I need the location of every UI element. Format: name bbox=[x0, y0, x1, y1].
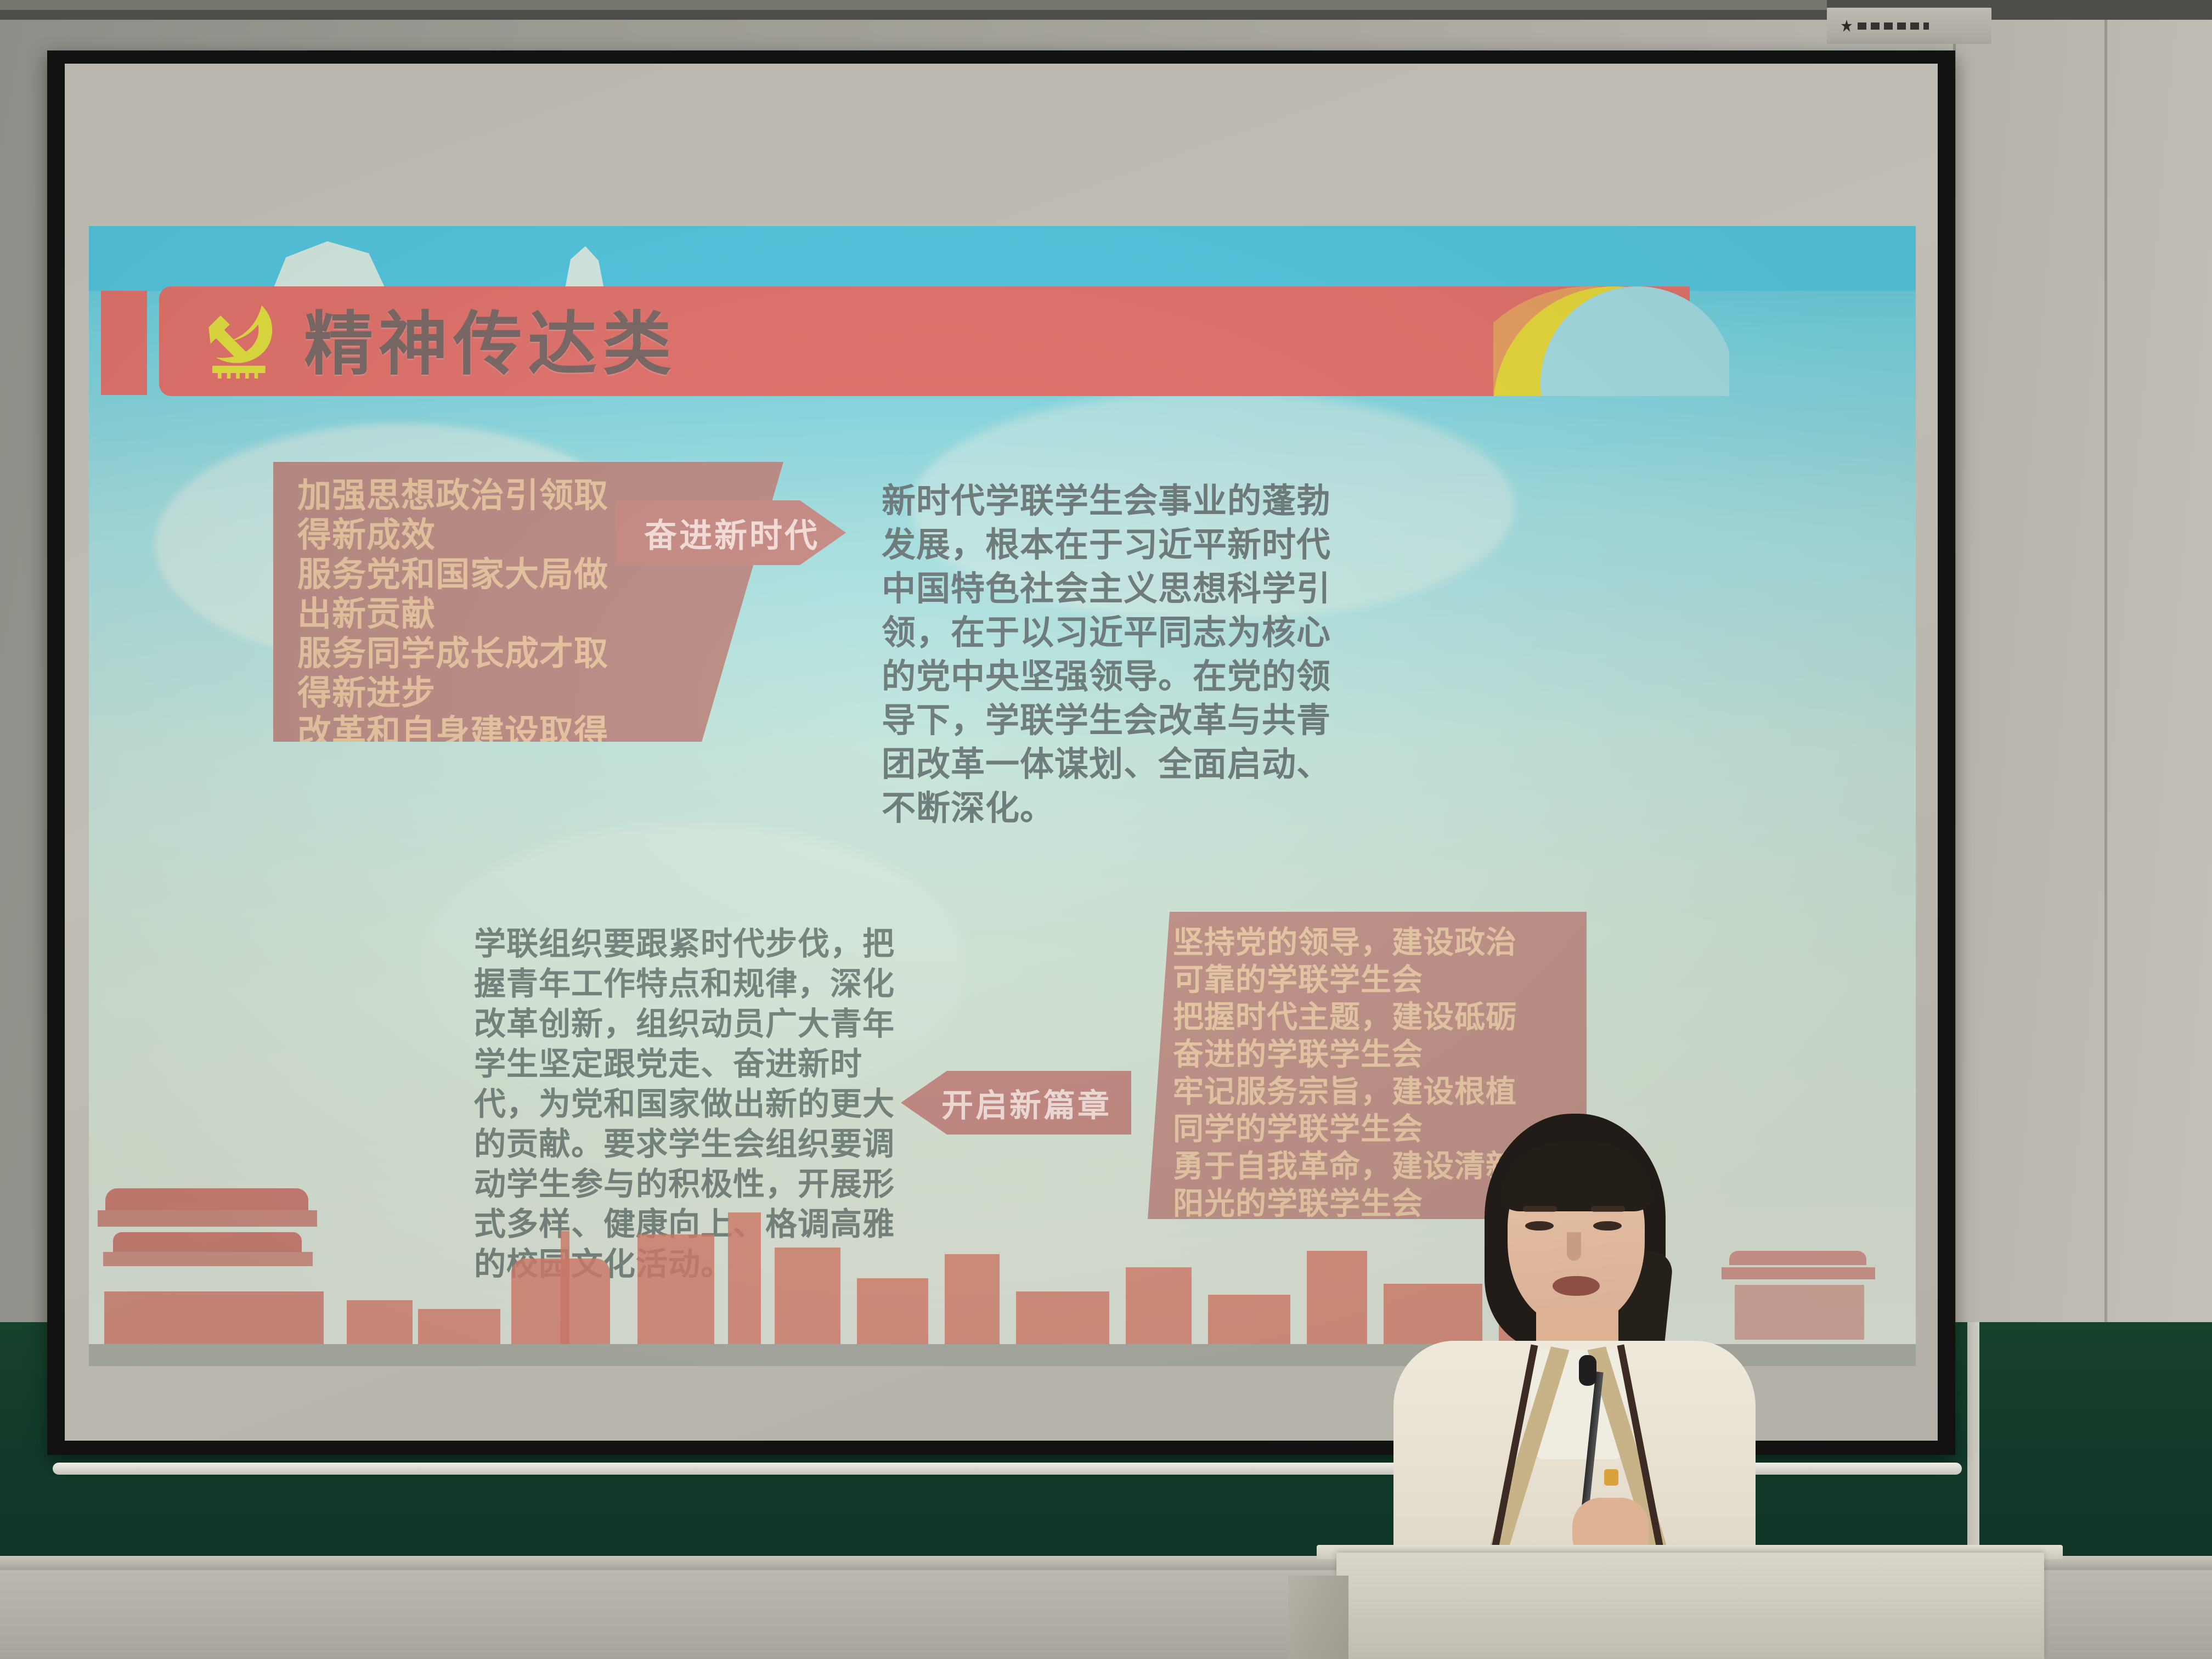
photo-scene: 精神传达类 加强思想政治引领取得新成效 服务党和国家大局做出新贡献 服务同学成长… bbox=[0, 0, 2212, 1659]
goal-line-1: 坚持党的领导，建设政治 bbox=[1173, 924, 1546, 961]
header-accent-tab bbox=[101, 291, 147, 395]
wall-sign-text bbox=[1858, 22, 1929, 30]
wall-sign bbox=[1827, 8, 1991, 44]
arrow-banner-forward: 奋进新时代 bbox=[616, 500, 846, 565]
arrow-banner-forward-label: 奋进新时代 bbox=[616, 509, 820, 557]
mouth bbox=[1553, 1276, 1600, 1296]
microphone-head-icon bbox=[1579, 1355, 1596, 1386]
goal-line-2: 可靠的学联学生会 bbox=[1173, 961, 1546, 998]
lectern bbox=[1336, 1553, 2044, 1659]
goal-line-3: 把握时代主题，建设砥砺 bbox=[1173, 998, 1546, 1036]
tiananmen-gate-icon bbox=[94, 1185, 330, 1344]
cpc-hammer-sickle-emblem-icon bbox=[193, 296, 286, 384]
arrow-banner-newchapter-label: 开启新篇章 bbox=[941, 1080, 1131, 1126]
arrow-banner-newchapter: 开启新篇章 bbox=[901, 1071, 1131, 1135]
achievement-line-4: 改革和自身建设取得新进展 bbox=[297, 713, 627, 792]
chalkboard-divider bbox=[1967, 1322, 1979, 1558]
lectern-side-panel bbox=[1288, 1576, 1348, 1659]
ceiling-strip-highlight bbox=[0, 0, 1827, 10]
rainbow-arc-decoration bbox=[1493, 286, 1729, 396]
nose bbox=[1567, 1232, 1581, 1261]
wall-sign-icon bbox=[1841, 20, 1852, 32]
eye-right bbox=[1593, 1221, 1622, 1231]
achievement-line-3: 服务同学成长成才取得新进步 bbox=[297, 634, 627, 713]
achievement-line-2: 服务党和国家大局做出新贡献 bbox=[297, 555, 627, 634]
eye-left bbox=[1525, 1221, 1554, 1231]
lapel-badge bbox=[1604, 1469, 1618, 1486]
intro-paragraph: 新时代学联学生会事业的蓬勃发展，根本在于习近平新时代中国特色社会主义思想科学引领… bbox=[882, 479, 1337, 831]
eyebrow-left bbox=[1523, 1206, 1557, 1212]
achievement-line-1: 加强思想政治引领取得新成效 bbox=[297, 476, 627, 555]
goal-line-5: 牢记服务宗旨，建设根植 bbox=[1173, 1073, 1546, 1110]
slide-title: 精神传达类 bbox=[304, 301, 677, 388]
wall-seam-right bbox=[2104, 0, 2107, 1350]
eyebrow-right bbox=[1591, 1206, 1625, 1212]
presenter bbox=[1372, 1114, 1778, 1585]
goal-line-4: 奋进的学联学生会 bbox=[1173, 1036, 1546, 1073]
wall-right-panel bbox=[1953, 0, 2212, 1339]
